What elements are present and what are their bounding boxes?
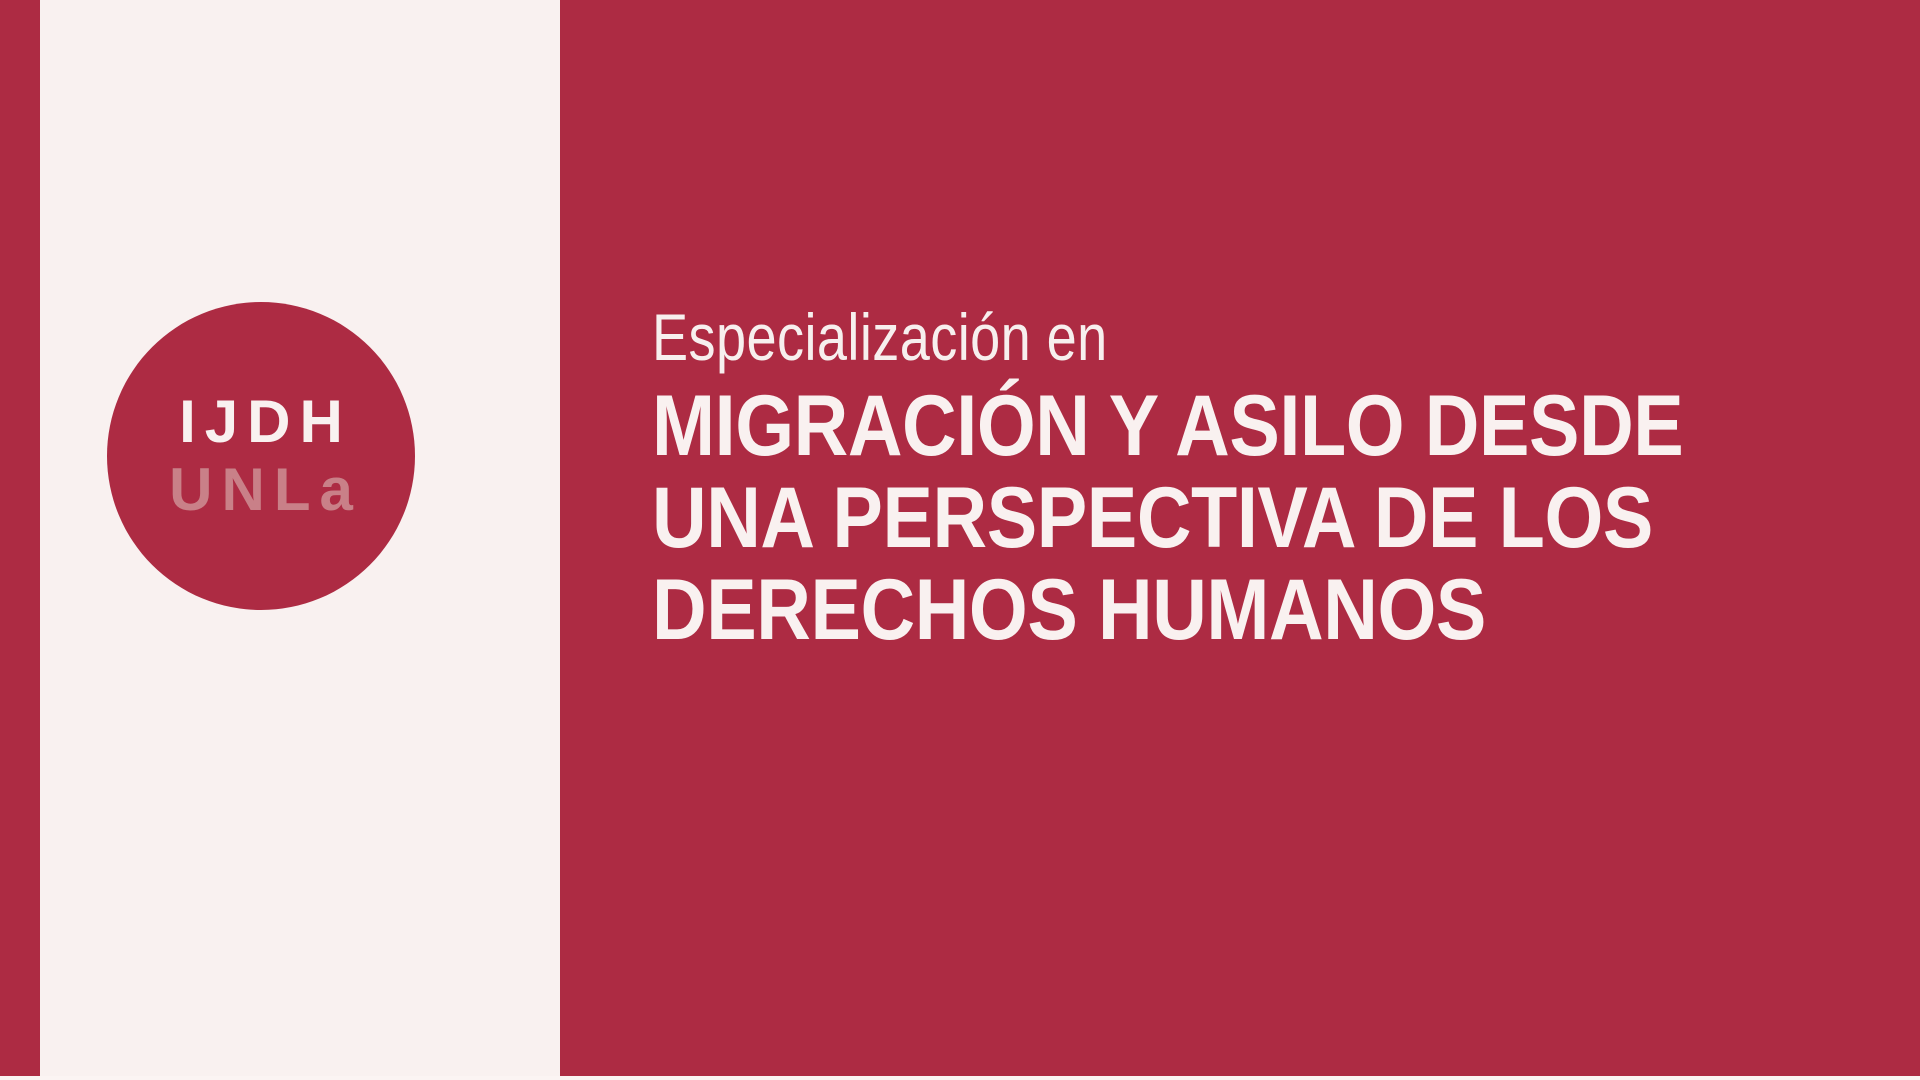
poster-canvas: IJDH UNLa Especialización en MIGRACIÓN Y… (0, 0, 1920, 1080)
headline-line-1: MIGRACIÓN Y ASILO DESDE (652, 380, 1734, 472)
title-headline: MIGRACIÓN Y ASILO DESDE UNA PERSPECTIVA … (652, 380, 1734, 656)
logo-secondary-text: UNLa (160, 458, 362, 522)
bottom-cream-strip (0, 1076, 1920, 1080)
title-block: Especialización en MIGRACIÓN Y ASILO DES… (652, 300, 1882, 656)
logo-primary-text: IJDH (170, 390, 352, 454)
headline-line-2: UNA PERSPECTIVA DE LOS (652, 472, 1734, 564)
title-eyebrow: Especialización en (652, 300, 1661, 374)
ijdh-unla-logo-badge[interactable]: IJDH UNLa (107, 302, 415, 610)
headline-line-3: DERECHOS HUMANOS (652, 564, 1734, 656)
